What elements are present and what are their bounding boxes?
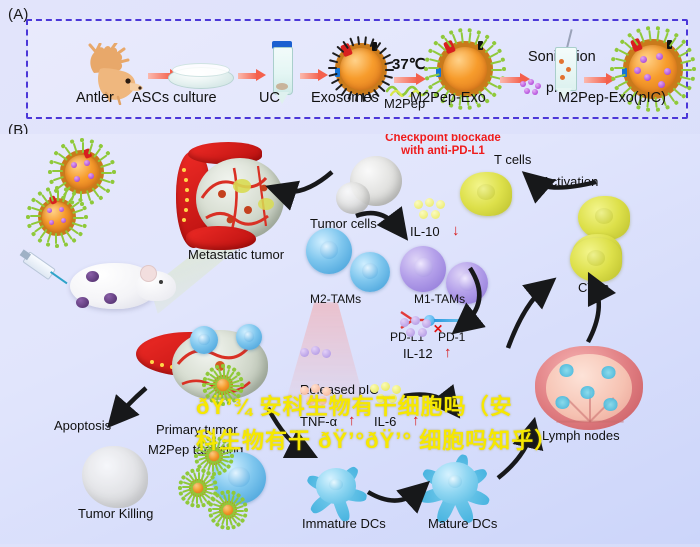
label-il-12: IL-12	[403, 346, 433, 361]
label-immature-dcs: Immature DCs	[302, 516, 386, 531]
apoptotic-tumor-cell-icon	[82, 446, 148, 508]
targeting-exosome-icon-3	[218, 500, 238, 520]
figure-root: (A)	[0, 0, 700, 547]
il-12-up-arrow: ↑	[444, 344, 452, 361]
m2-tam-cell-icon-2	[350, 252, 390, 292]
label-tumor-killing: Tumor Killing	[78, 506, 153, 521]
m2-tam-cell-icon-1	[306, 228, 352, 274]
tumor-infiltrating-cell-1	[190, 326, 218, 354]
label-il-10: IL-10	[410, 224, 440, 239]
label-t-cells: T cells	[494, 152, 531, 167]
petri-dish-icon	[168, 63, 232, 91]
step-label-exosomes: Exosomes	[311, 90, 379, 106]
pic-molecule-icon	[520, 79, 544, 95]
process-arrow-2	[238, 71, 266, 80]
label-apoptosis: Apoptosis	[54, 418, 111, 433]
step-label-m2pep-exo: M2Pep-Exo	[410, 90, 486, 106]
m1-tam-cell-icon-1	[400, 246, 446, 292]
panel-a-container: 37℃ M2Pep Sonication pIC	[26, 19, 688, 119]
immature-dc-icon	[302, 454, 370, 518]
process-arrow-3	[300, 71, 328, 80]
watermark-overlay: ðŸ’¾ 安科生物有干细胞吗（安 科生物有干 ðŸ’°ðŸ’° 细胞吗知乎）	[196, 390, 666, 458]
label-activation: Activation	[542, 174, 598, 189]
injected-exosome-icon-2	[36, 196, 78, 238]
step-label-antler: Antler	[76, 90, 114, 106]
mouse-model-icon	[62, 249, 180, 321]
label-m2-tams: M2-TAMs	[310, 292, 361, 306]
checkpoint-line-1: Checkpoint blockade	[368, 134, 518, 145]
tumor-cell-icon-2	[336, 182, 370, 214]
targeting-exosome-icon-2	[188, 478, 208, 498]
t-cell-icon-1	[460, 172, 512, 216]
panel-b-container: Metastatic tumor Tumor cells Checkpoint …	[0, 134, 700, 544]
il-12-molecules	[400, 316, 442, 344]
label-mature-dcs: Mature DCs	[428, 516, 497, 531]
label-ctls: CTLs	[578, 280, 609, 295]
temperature-label: 37℃	[392, 55, 426, 73]
watermark-line-1: ðŸ’¾ 安科生物有干细胞吗（安	[196, 390, 666, 424]
il-10-down-arrow: ↓	[452, 222, 460, 239]
step-label-ascs-culture: ASCs culture	[132, 90, 217, 106]
step-label-m2pep-exo-pic: M2Pep-Exo(pIC)	[558, 90, 666, 106]
ctl-cell-icon	[570, 238, 622, 282]
step-label-uc: UC	[259, 90, 280, 106]
watermark-line-2: 科生物有干 ðŸ’°ðŸ’° 细胞吗知乎）	[196, 424, 666, 458]
label-pd-1: PD-1	[438, 330, 465, 344]
il-10-molecules	[414, 198, 454, 226]
tumor-infiltrating-cell-2	[236, 324, 262, 350]
released-pic-molecules	[300, 346, 340, 372]
label-m1-tams: M1-TAMs	[414, 292, 465, 306]
label-metastatic-tumor: Metastatic tumor	[188, 247, 284, 262]
